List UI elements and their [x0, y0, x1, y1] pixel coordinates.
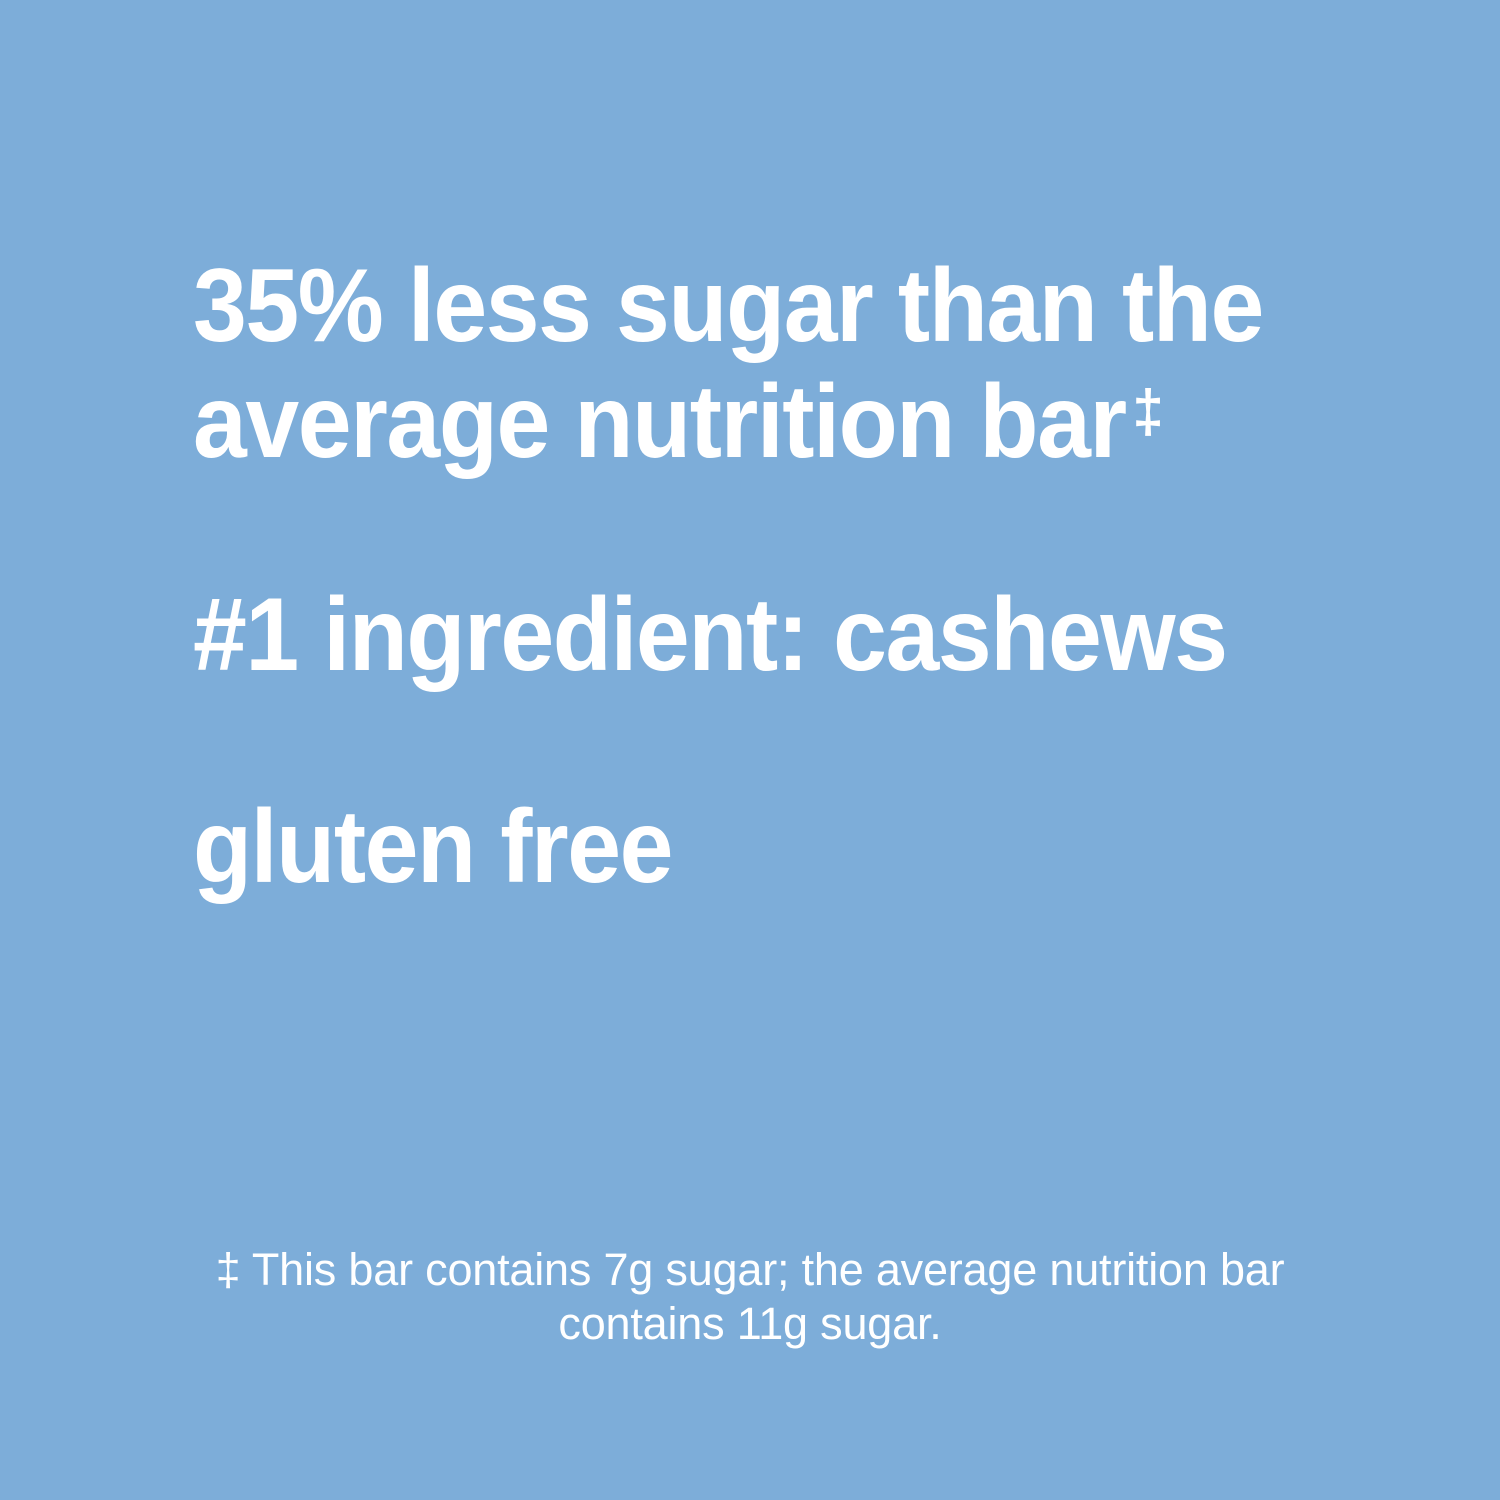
claim-ingredient: #1 ingredient: cashews: [193, 577, 1309, 693]
double-dagger-icon: ‡: [1126, 377, 1164, 445]
claim-ingredient-text: #1 ingredient: cashews: [193, 577, 1227, 693]
claim-sugar-text: 35% less sugar than the average nutritio…: [193, 248, 1263, 480]
claim-gluten-free-text: gluten free: [193, 789, 672, 905]
footnote-text: ‡ This bar contains 7g sugar; the averag…: [0, 1243, 1500, 1351]
claims-list: 35% less sugar than the average nutritio…: [193, 248, 1393, 906]
claim-gluten-free: gluten free: [193, 789, 1309, 905]
claim-sugar: 35% less sugar than the average nutritio…: [193, 248, 1309, 481]
product-claims-poster: 35% less sugar than the average nutritio…: [0, 0, 1500, 1500]
